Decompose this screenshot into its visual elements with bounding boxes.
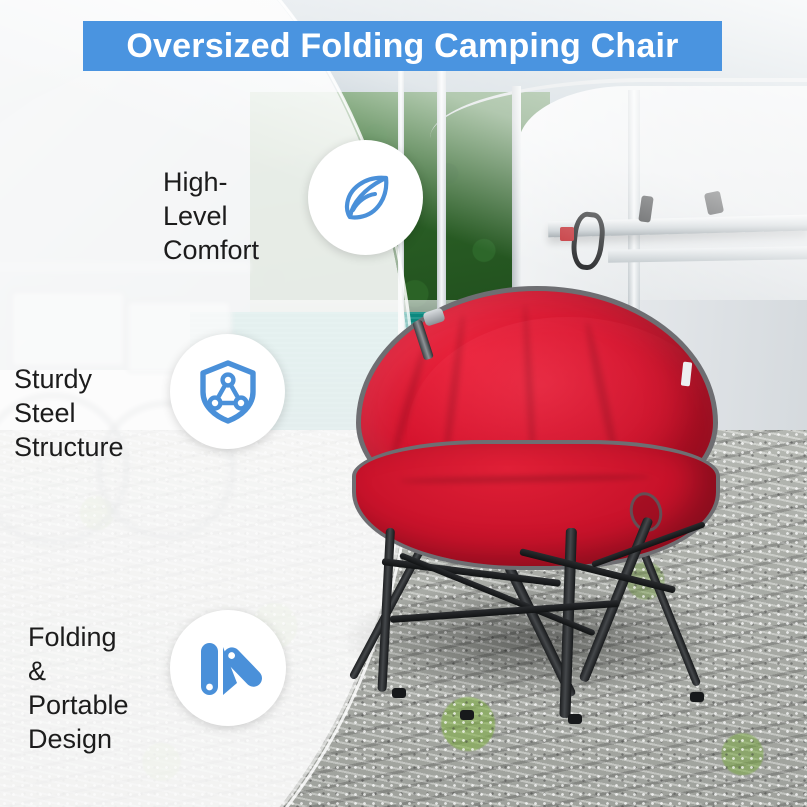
- folding-icon: [193, 633, 263, 703]
- chair-seat: [352, 440, 720, 570]
- feature-structure-icon-badge: [170, 334, 285, 449]
- chair-foot: [392, 688, 406, 698]
- chair-foot: [568, 714, 582, 724]
- camping-chair: [330, 280, 730, 730]
- feature-portability-icon-badge: [170, 610, 286, 726]
- leaf-icon: [334, 166, 398, 230]
- feature-comfort-icon-badge: [308, 140, 423, 255]
- feature-structure-label: Sturdy Steel Structure: [14, 362, 124, 464]
- shield-structure-icon: [194, 358, 262, 426]
- page-title: Oversized Folding Camping Chair: [126, 27, 678, 66]
- feature-comfort-label: High-Level Comfort: [163, 165, 259, 267]
- title-banner: Oversized Folding Camping Chair: [83, 21, 722, 71]
- product-feature-image: Oversized Folding Camping Chair High-Lev…: [0, 0, 807, 807]
- feature-portability-label: Folding & Portable Design: [28, 620, 129, 756]
- chair-foot: [460, 710, 474, 720]
- chair-foot: [690, 692, 704, 702]
